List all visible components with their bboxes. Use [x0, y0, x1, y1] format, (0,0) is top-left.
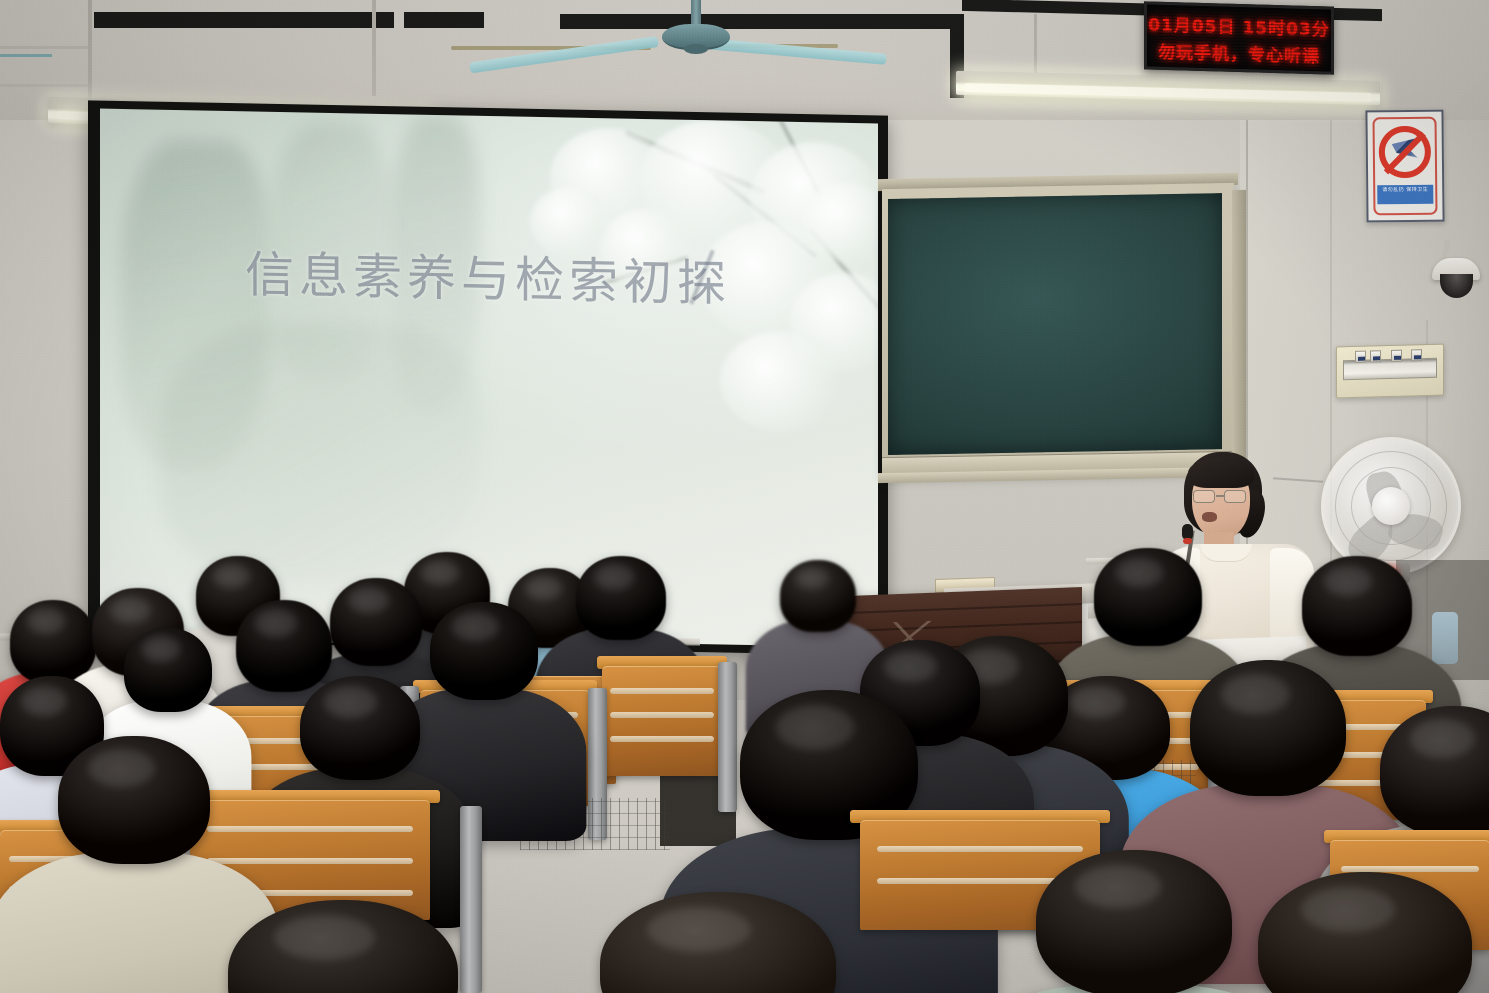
glasses-lens [1224, 490, 1246, 503]
led-display-board: 01月05日 15时03分 勿玩手机，专心听课 [1144, 1, 1334, 74]
fan-hub [1372, 487, 1410, 525]
sign-caption-line1: 请勿乱扔 保持卫生 [1377, 187, 1433, 195]
breaker-switch[interactable] [1411, 349, 1422, 361]
hair-highlight [1324, 566, 1372, 596]
student-head [600, 892, 836, 993]
hair-highlight [1221, 674, 1290, 715]
hair-highlight [274, 915, 375, 960]
hair-highlight [1116, 558, 1164, 587]
led-date-time: 01月05日 15时03分 [1147, 10, 1331, 40]
slide-title: 信息素养与检索初探 [245, 235, 731, 315]
breaker-switch[interactable] [1355, 351, 1366, 363]
ceiling-rail [372, 0, 376, 96]
hair-highlight [255, 609, 297, 637]
audience-member [1162, 872, 1489, 993]
hair-highlight [21, 686, 67, 716]
lecture-hall-photo: 01月05日 15时03分 勿玩手机，专心听课 请勿乱扔 保持卫生 [0, 0, 1489, 993]
hair-highlight [776, 705, 854, 750]
ceiling-beam [560, 14, 960, 29]
led-notice: 勿玩手机，专心听课 [1147, 37, 1331, 67]
hair-highlight [594, 564, 634, 589]
hair-highlight [795, 567, 828, 589]
hair-highlight [142, 636, 181, 661]
ceiling-beam [94, 12, 394, 28]
student-head [576, 556, 666, 640]
sign-caption-banner: 请勿乱扔 保持卫生 [1377, 185, 1433, 205]
hair-highlight [324, 686, 377, 717]
chalkboard-surface [888, 193, 1222, 455]
hair-highlight [1075, 865, 1161, 909]
student-head [1094, 548, 1202, 646]
glasses-lens [1193, 490, 1215, 503]
fan-hub [684, 44, 708, 54]
electrical-breaker-panel [1336, 344, 1444, 399]
student-head [228, 900, 458, 993]
student-head [1302, 556, 1412, 656]
green-chalkboard [882, 183, 1234, 477]
glasses-icon [1192, 490, 1250, 503]
breaker-switch[interactable] [1370, 350, 1381, 362]
hair-highlight [213, 564, 250, 588]
ceiling-rail [88, 0, 92, 108]
student-head [1258, 872, 1472, 993]
ceiling-pipe [0, 54, 52, 57]
hair-highlight [647, 907, 751, 952]
ceiling-fan [636, 0, 756, 60]
microphone-indicator [1183, 538, 1192, 544]
hair-highlight [884, 651, 937, 683]
student-head [1380, 706, 1489, 836]
glasses-bridge [1216, 495, 1225, 497]
hair-highlight [110, 597, 150, 623]
wall-mounted-fan [1321, 437, 1461, 575]
student-head [300, 676, 420, 780]
hair-highlight [88, 749, 155, 787]
lecturer-fringe [1188, 458, 1254, 488]
student-head [780, 560, 856, 632]
hair-highlight [1410, 719, 1475, 758]
audience-member [494, 892, 942, 993]
hair-highlight [1301, 887, 1395, 932]
ceiling-rail [0, 46, 90, 49]
no-paper-airplane-sign: 请勿乱扔 保持卫生 [1365, 110, 1444, 223]
breaker-switch[interactable] [1391, 350, 1402, 362]
hair-highlight [452, 612, 500, 641]
chalkboard-side-frame [1232, 190, 1246, 476]
slide-background-shape [160, 320, 480, 586]
ceiling-rail [0, 84, 92, 87]
ceiling-beam [404, 12, 484, 28]
student-head [58, 736, 210, 864]
ceiling-rail [1034, 14, 1037, 76]
slide-blossom [720, 330, 840, 432]
lecturer-mouth [1202, 512, 1217, 522]
